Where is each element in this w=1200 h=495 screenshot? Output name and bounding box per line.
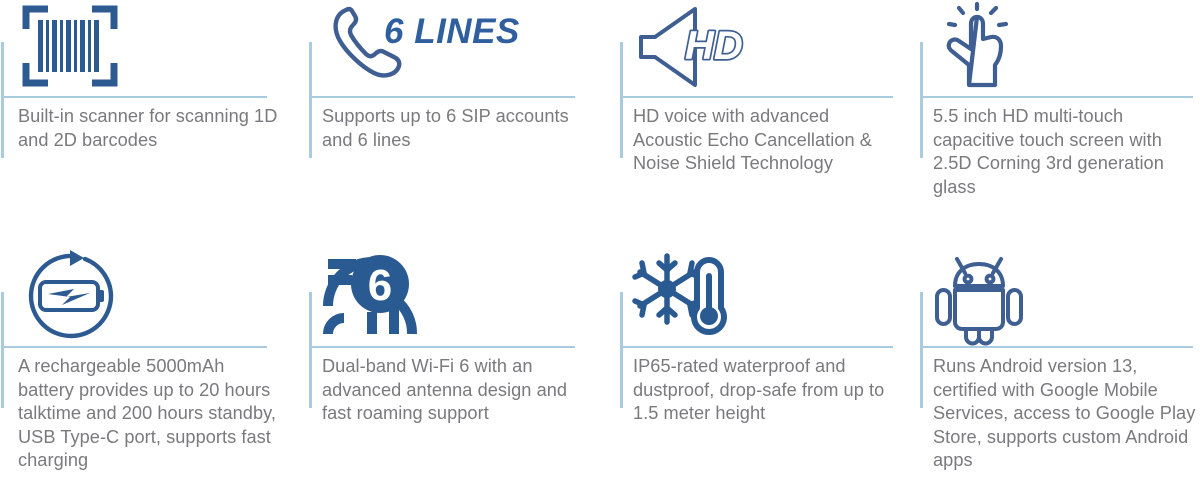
feature-description: A rechargeable 5000mAh battery provides … (18, 355, 278, 473)
feature-grid: Built-in scanner for scanning 1D and 2D … (0, 0, 1200, 495)
feature-card-wifi6: 6 Dual-band Wi-Fi 6 with an advanced ant… (300, 250, 600, 495)
wifi-6-icon: 6 (322, 252, 418, 340)
feature-card-android: Runs Android version 13, certified with … (911, 250, 1200, 495)
android-robot-icon (933, 252, 1025, 340)
feature-description: HD voice with advanced Acoustic Echo Can… (633, 105, 901, 176)
feature-card-hd-voice: HD HD voice with advanced Acoustic Echo … (611, 0, 911, 248)
accent-rail (620, 42, 623, 158)
divider-line (2, 96, 267, 98)
feature-card-sip-lines: 6 LINES Supports up to 6 SIP accounts an… (300, 0, 600, 248)
hd-speaker-icon: HD (633, 2, 763, 90)
accent-rail (620, 292, 623, 408)
feature-description: Runs Android version 13, certified with … (933, 355, 1200, 473)
accent-rail (309, 292, 312, 408)
divider-line (921, 96, 1193, 98)
snowflake-thermometer-icon (633, 252, 729, 340)
icon-caption: HD (685, 24, 743, 68)
phone-handset-icon: 6 LINES (322, 2, 482, 90)
feature-description: Dual-band Wi-Fi 6 with an advanced anten… (322, 355, 584, 426)
feature-description: 5.5 inch HD multi-touch capacitive touch… (933, 105, 1200, 199)
feature-card-touch-screen: 5.5 inch HD multi-touch capacitive touch… (911, 0, 1200, 248)
feature-card-scanner: Built-in scanner for scanning 1D and 2D … (0, 0, 300, 248)
icon-caption: 6 (368, 261, 392, 310)
divider-line (2, 346, 267, 348)
accent-rail (920, 42, 923, 158)
accent-rail (1, 292, 4, 408)
accent-rail (309, 42, 312, 158)
divider-line (310, 96, 575, 98)
barcode-scanner-icon (22, 2, 118, 90)
icon-caption: 6 LINES (384, 12, 520, 51)
divider-line (621, 346, 893, 348)
divider-line (921, 346, 1193, 348)
accent-rail (920, 292, 923, 408)
divider-line (310, 346, 575, 348)
feature-card-battery: A rechargeable 5000mAh battery provides … (0, 250, 300, 495)
feature-card-durability: IP65-rated waterproof and dustproof, dro… (611, 250, 911, 495)
accent-rail (1, 42, 4, 158)
rechargeable-battery-icon (22, 252, 122, 340)
divider-line (621, 96, 893, 98)
feature-description: Supports up to 6 SIP accounts and 6 line… (322, 105, 584, 152)
tap-hand-icon (933, 2, 1025, 90)
feature-description: Built-in scanner for scanning 1D and 2D … (18, 105, 278, 152)
feature-description: IP65-rated waterproof and dustproof, dro… (633, 355, 901, 426)
